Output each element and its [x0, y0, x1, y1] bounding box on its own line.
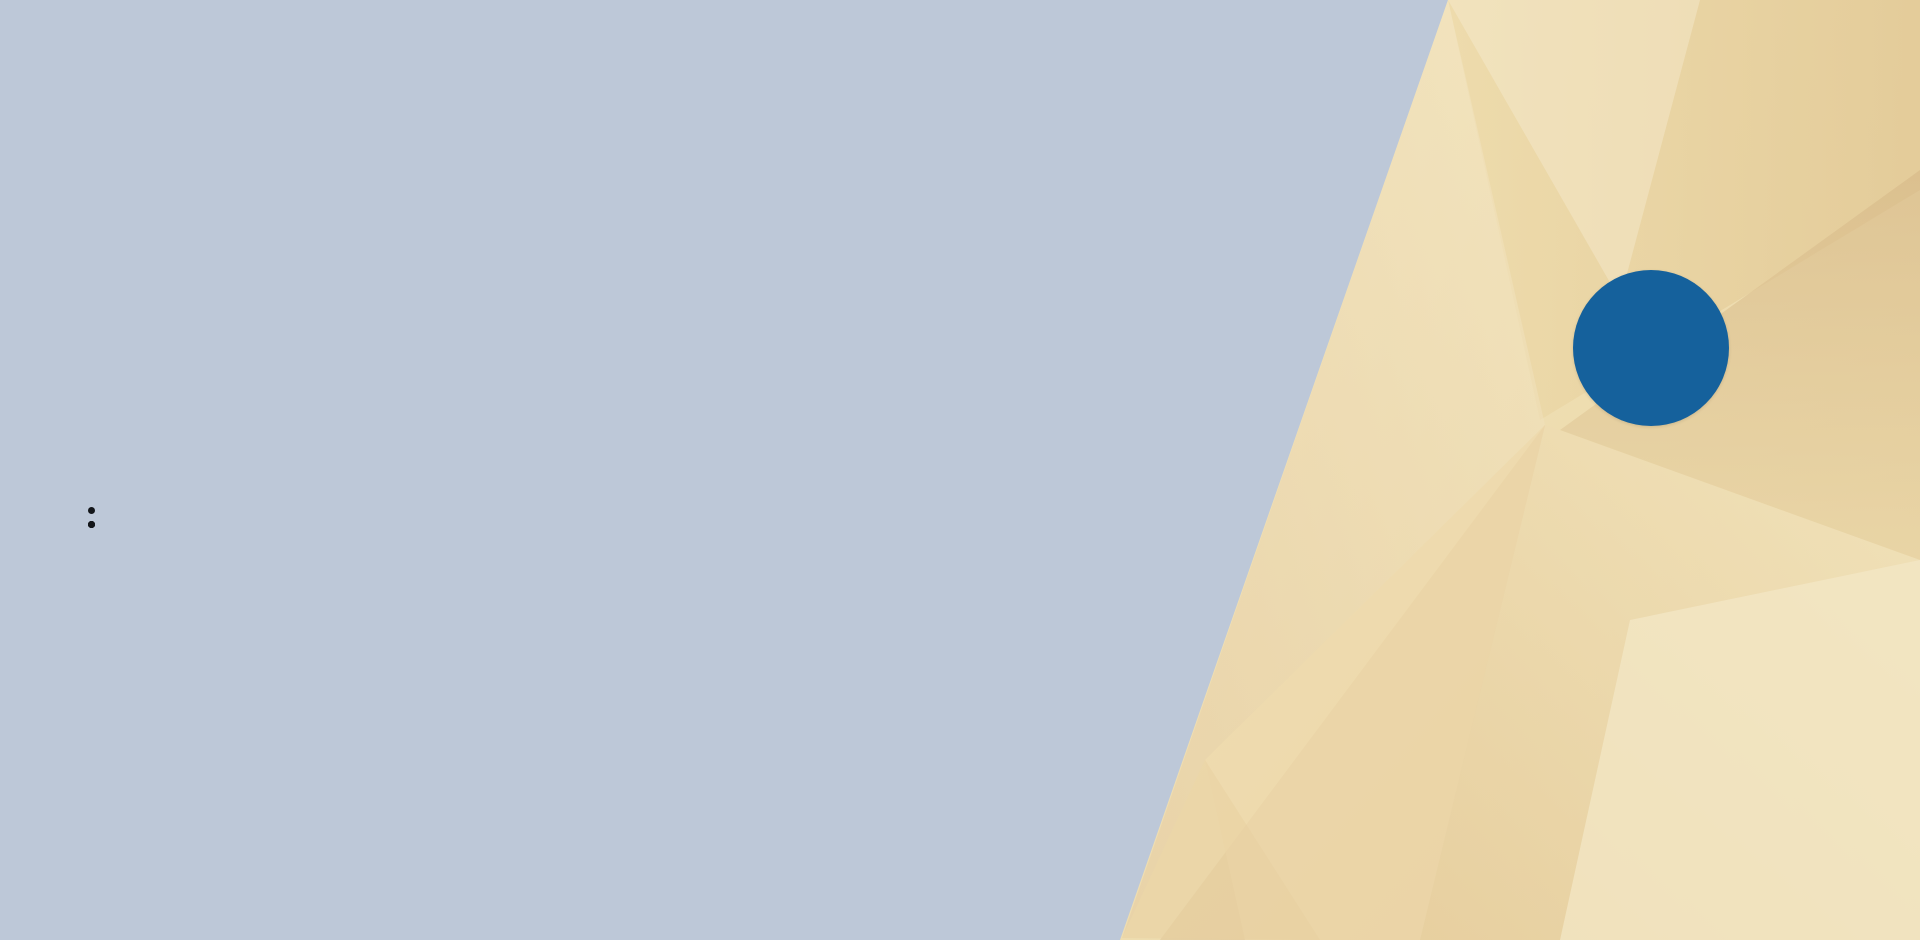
product-three-cartridge-system	[1160, 462, 1360, 732]
product-single-cartridge-system	[1665, 462, 1795, 732]
product-two-cartridge-system	[1440, 462, 1605, 732]
product-image-group	[0, 0, 1920, 940]
product-four-cartridge-system	[865, 462, 1105, 732]
banner-stage	[0, 0, 1920, 940]
